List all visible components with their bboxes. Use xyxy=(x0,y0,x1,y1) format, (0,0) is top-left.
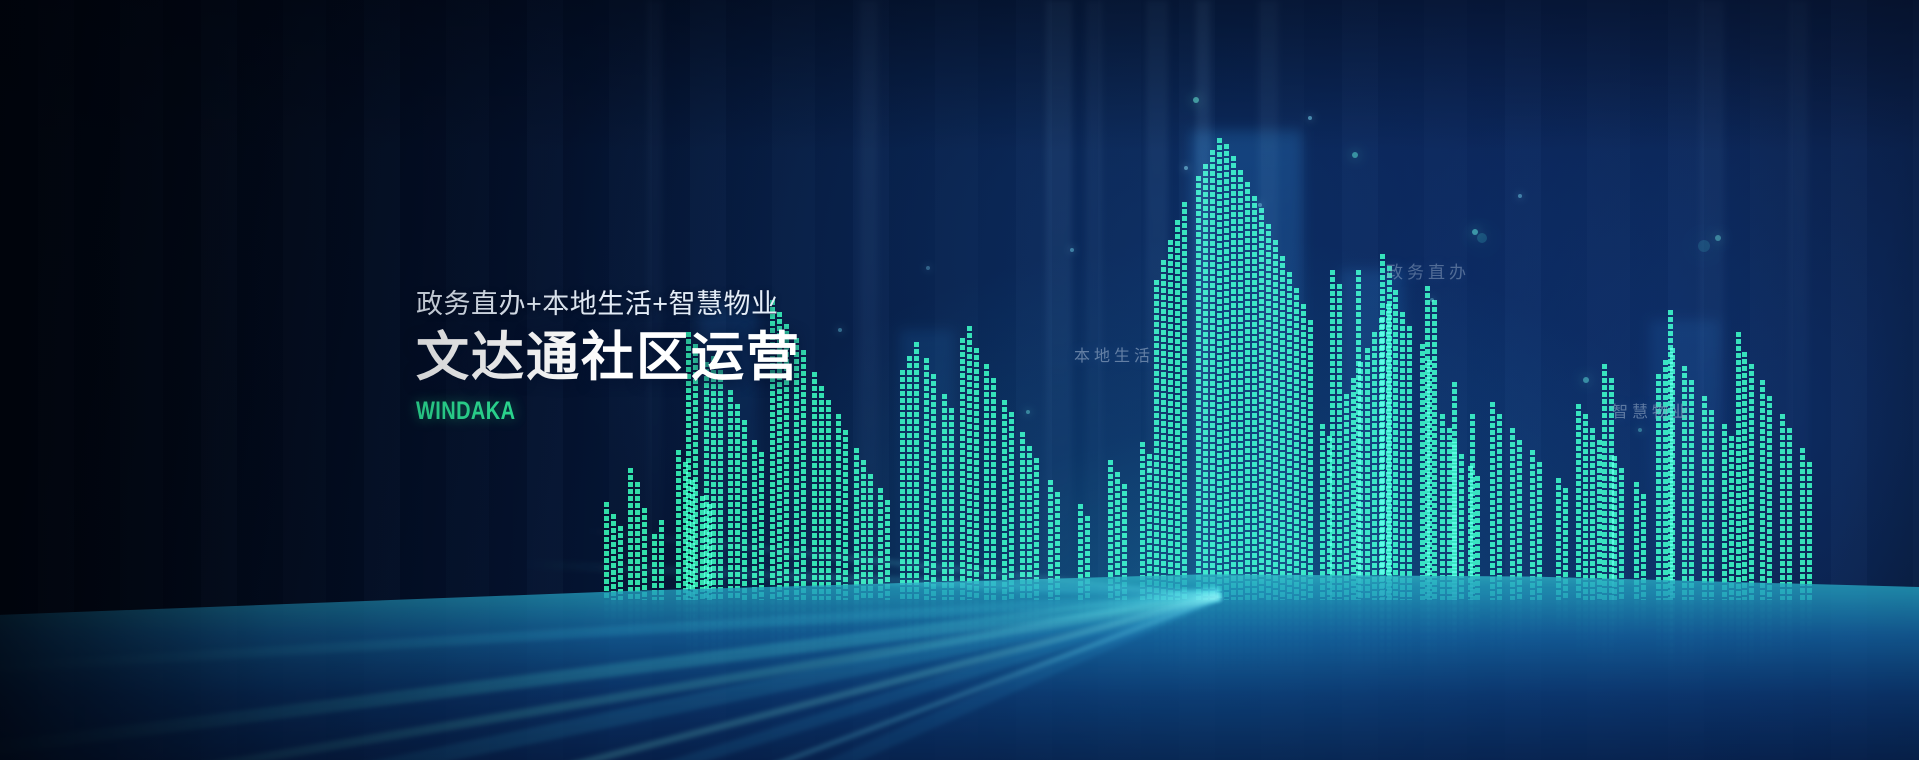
sky-particle xyxy=(1715,235,1721,241)
hero-text-block: 政务直办+本地生活+智慧物业 文达通社区运营 WINDAKA xyxy=(416,290,1036,426)
sky-particle xyxy=(1193,97,1199,103)
city-label-1: 政务直办 xyxy=(1386,258,1470,283)
sky-particle xyxy=(1583,377,1589,383)
sky-particle xyxy=(1070,248,1074,252)
city-label-2: 本地生活 xyxy=(1074,342,1154,366)
sky-particle xyxy=(926,266,930,270)
sky-particle xyxy=(1638,428,1642,432)
city-label-3: 智慧物业 xyxy=(1612,398,1692,422)
windaka-wordmark: WINDAKA xyxy=(416,397,912,426)
sky-particle xyxy=(1698,240,1710,252)
hero-headline: 文达通社区运营 xyxy=(416,329,1036,386)
sky-particle xyxy=(1148,468,1152,472)
banner-root: 政务直办本地生活智慧物业 政务直办+本地生活+智慧物业 文达通社区运营 WIND… xyxy=(0,0,1919,760)
hero-subtitle: 政务直办+本地生活+智慧物业 xyxy=(416,290,1036,320)
sky-particle xyxy=(1430,298,1434,302)
sky-particle xyxy=(1472,229,1478,235)
sky-particle xyxy=(1258,203,1262,207)
sky-particle xyxy=(1352,152,1358,158)
sky-particle xyxy=(1184,166,1188,170)
sky-particle xyxy=(1477,233,1487,243)
sky-particle xyxy=(1518,194,1522,198)
sky-particle xyxy=(1308,116,1312,120)
